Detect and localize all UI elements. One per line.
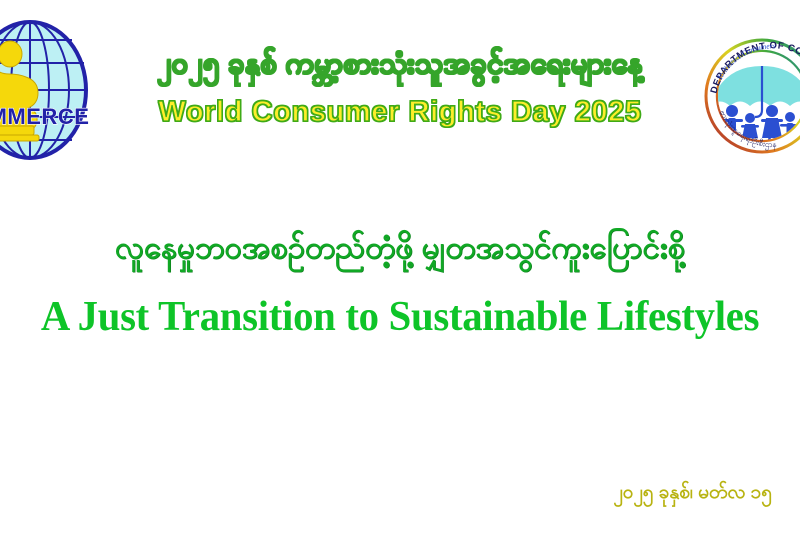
header-block: ၂၀၂၅ ခုနှစ် ကမ္ဘာ့စားသုံးသူအခွင့်အရေးမျာ… <box>95 46 705 129</box>
department-of-consumer-affairs-seal: DEPARTMENT OF CONSUMER AFFAIRS To Protec… <box>702 14 800 174</box>
page-title-english: World Consumer Rights Day 2025 <box>95 96 705 129</box>
globe-icon: COMMERCE <box>0 18 90 163</box>
theme-english: A Just Transition to Sustainable Lifesty… <box>12 294 788 340</box>
theme-block: လူနေမှုဘဝအစဉ်တည်တံ့ဖို့ မျှတအသွင်ကူးပြော… <box>0 228 800 340</box>
page-title-myanmar: ၂၀၂၅ ခုနှစ် ကမ္ဘာ့စားသုံးသူအခွင့်အရေးမျာ… <box>95 46 705 82</box>
theme-myanmar: လူနေမှုဘဝအစဉ်တည်တံ့ဖို့ မျှတအသွင်ကူးပြော… <box>0 228 800 268</box>
seal-icon: DEPARTMENT OF CONSUMER AFFAIRS To Protec… <box>702 14 800 174</box>
ministry-of-commerce-globe-logo: COMMERCE <box>0 18 90 163</box>
event-date-myanmar: ၂၀၂၅ ခုနှစ်၊ မတ်လ ၁၅ <box>613 480 772 508</box>
poster-canvas: COMMERCE <box>0 0 800 550</box>
globe-wordmark: COMMERCE <box>0 104 89 129</box>
date-block: ၂၀၂၅ ခုနှစ်၊ မတ်လ ၁၅ <box>613 480 772 508</box>
